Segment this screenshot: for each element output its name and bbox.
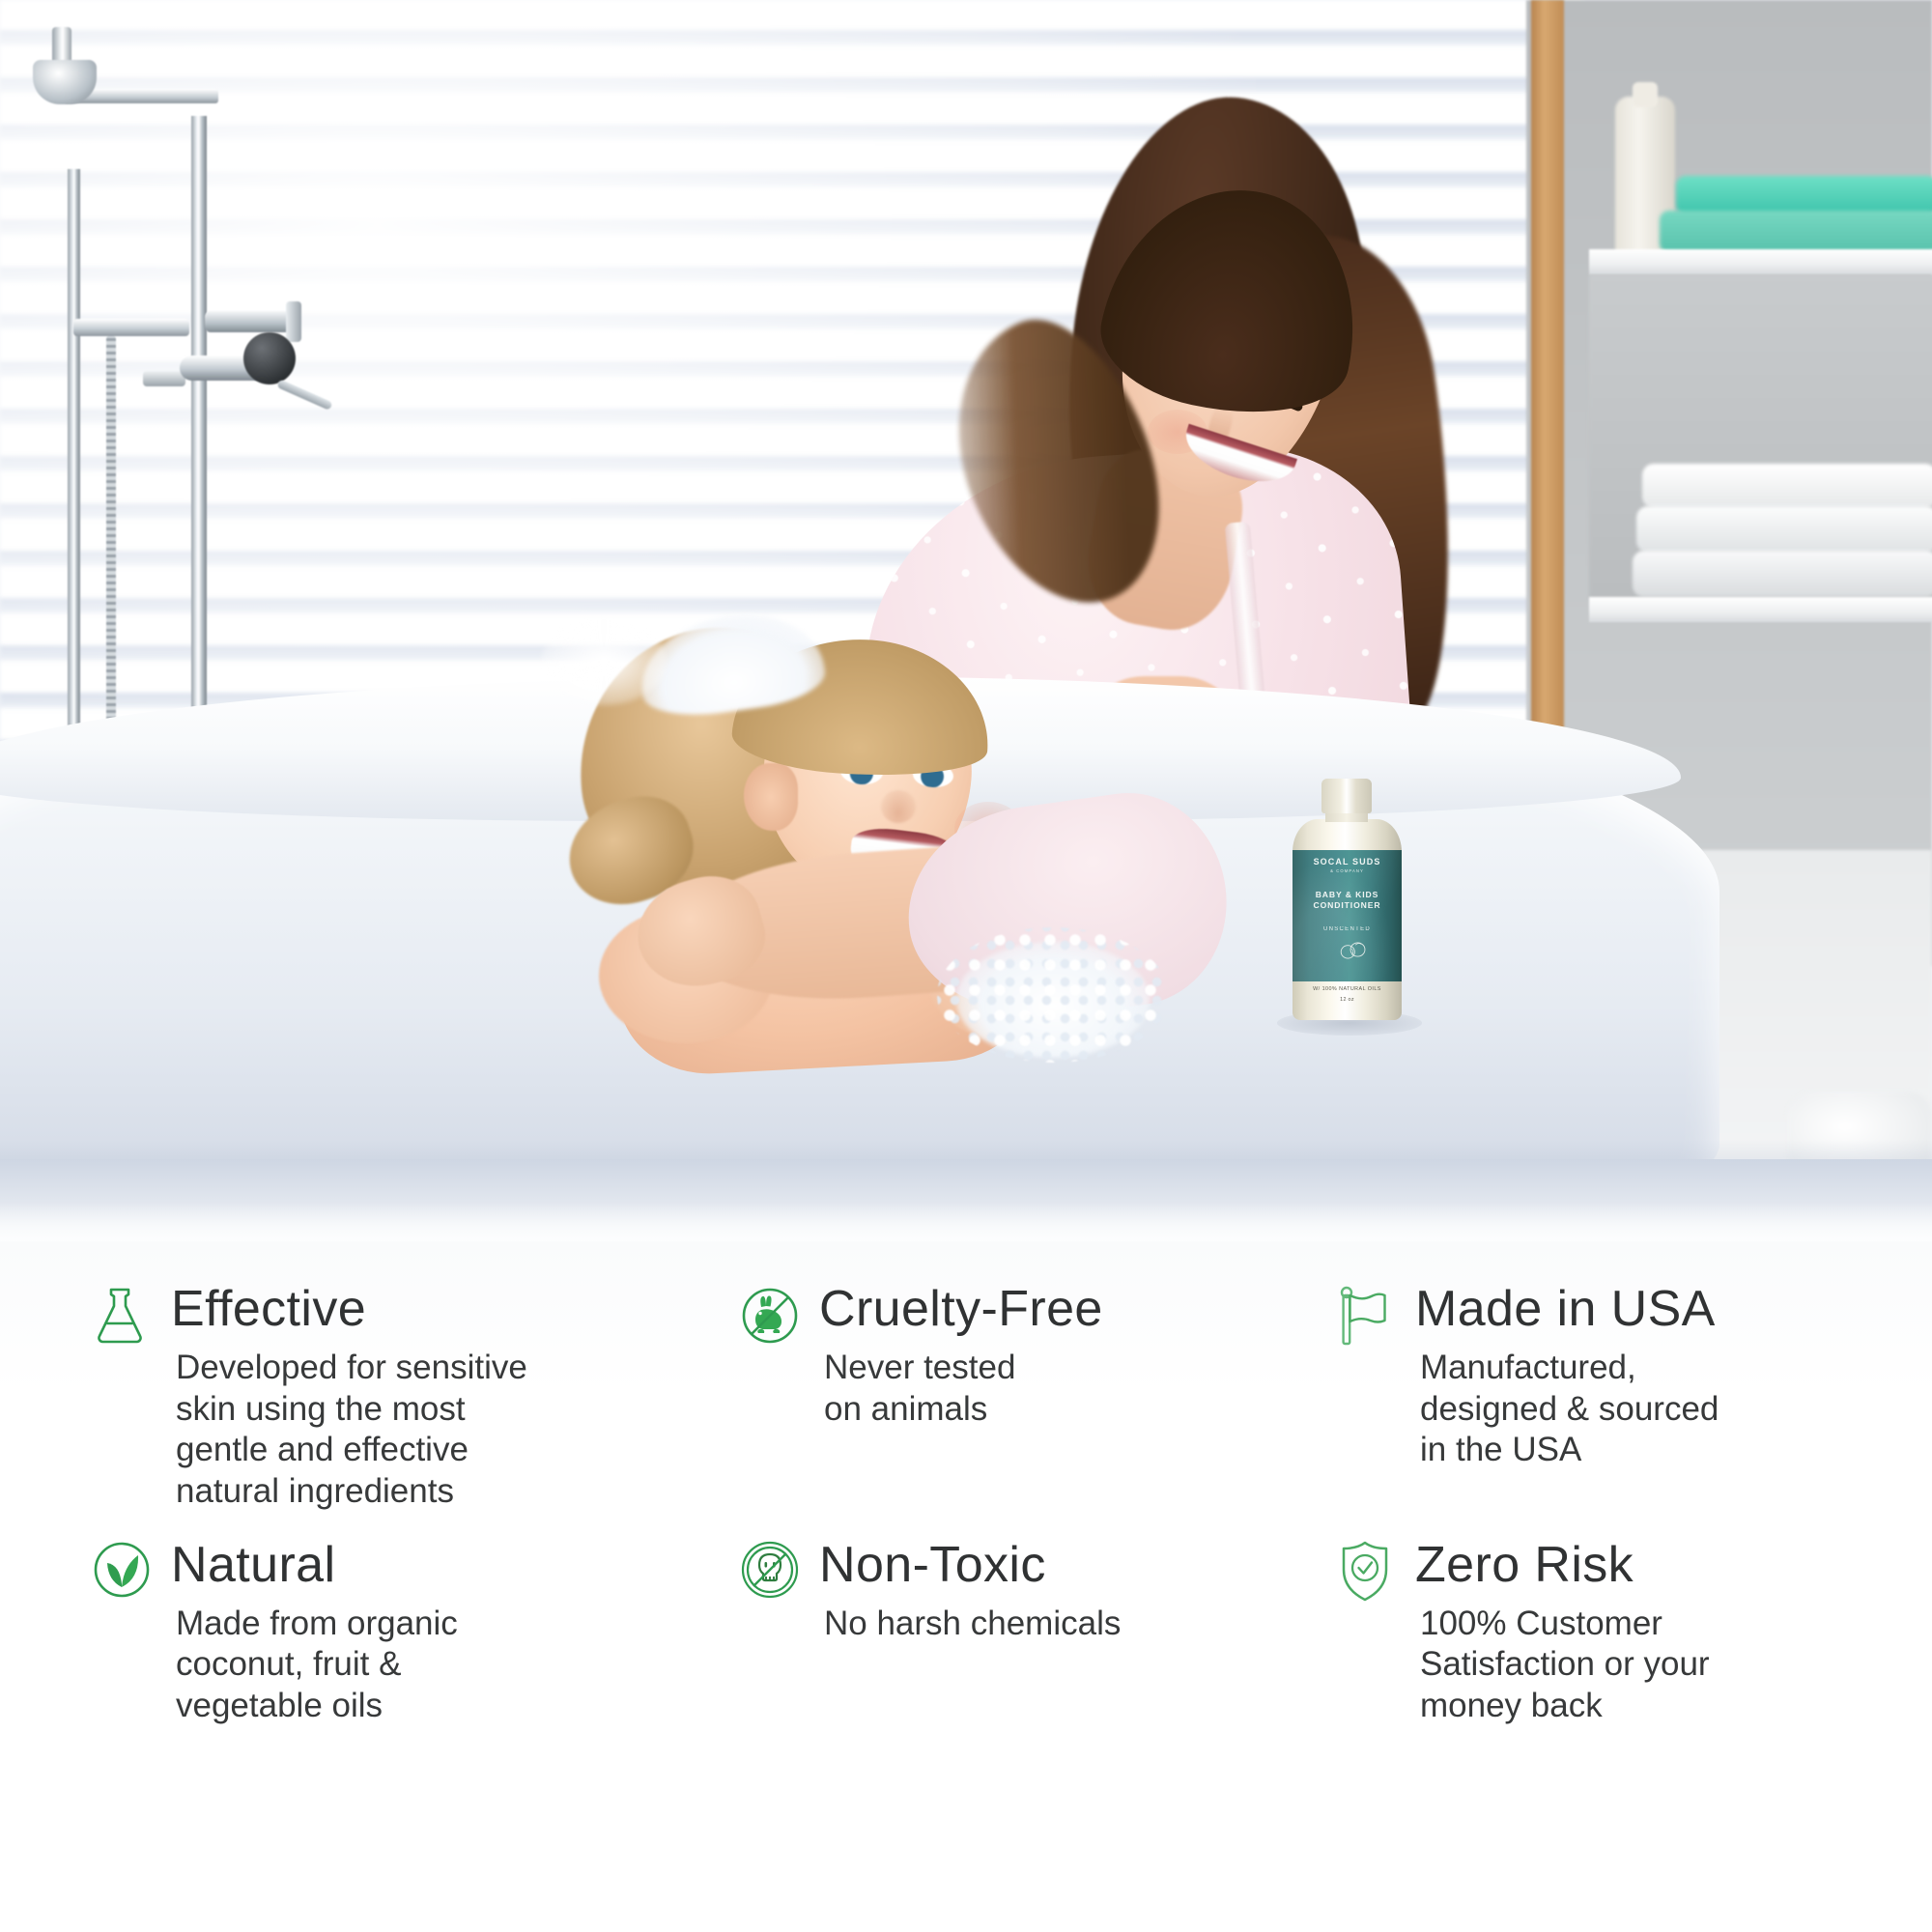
feature-description: Never tested on animals: [824, 1348, 1328, 1430]
white-towel: [1636, 506, 1932, 553]
flask-icon: [92, 1286, 148, 1346]
bottle-cap: [1321, 779, 1372, 813]
bottle-footer: W/ 100% NATURAL OILS 12 oz: [1293, 981, 1402, 1020]
bottle-brand: SOCAL SUDS: [1293, 858, 1402, 867]
teal-towel: [1676, 176, 1932, 214]
faucet-handle: [243, 332, 296, 384]
white-towel: [1642, 464, 1932, 508]
feature-icon-wrap: [92, 1536, 171, 1600]
feature-natural: Natural Made from organic coconut, fruit…: [92, 1536, 724, 1727]
bottle-product-name: BABY & KIDS CONDITIONER: [1293, 890, 1402, 912]
feature-text: Natural Made from organic coconut, fruit…: [171, 1536, 724, 1727]
feature-icon-wrap: [1336, 1282, 1415, 1350]
shower-bracket: [73, 319, 189, 336]
feature-title: Cruelty-Free: [819, 1284, 1328, 1334]
hero-photo: SOCAL SUDS & COMPANY BABY & KIDS CONDITI…: [0, 0, 1932, 1241]
feature-made-in-usa: Made in USA Manufactured, designed & sou…: [1328, 1282, 1932, 1513]
bath-foam: [541, 618, 667, 705]
feature-text: Effective Developed for sensitive skin u…: [171, 1282, 724, 1513]
feature-title: Zero Risk: [1415, 1540, 1932, 1590]
no-skull-icon: [740, 1540, 800, 1600]
child-nose: [881, 790, 916, 823]
feature-cruelty-free: Cruelty-Free Never tested on animals: [724, 1282, 1328, 1513]
photo-fade: [0, 1203, 1932, 1241]
feature-text: Cruelty-Free Never tested on animals: [819, 1282, 1328, 1430]
shower-valve-knob: [286, 301, 301, 342]
feature-text: Non-Toxic No harsh chemicals: [819, 1536, 1328, 1645]
feature-description: Made from organic coconut, fruit & veget…: [176, 1604, 724, 1727]
feature-description: No harsh chemicals: [824, 1604, 1328, 1645]
bottle-product-name-line2: CONDITIONER: [1293, 900, 1402, 911]
shower-valve: [205, 311, 292, 332]
child-ear: [744, 763, 798, 831]
feature-title: Made in USA: [1415, 1284, 1932, 1334]
shelf-bottle-cap: [1633, 82, 1658, 107]
feature-zero-risk: Zero Risk 100% Customer Satisfaction or …: [1328, 1536, 1932, 1727]
bottle-claim: W/ 100% NATURAL OILS: [1293, 986, 1402, 992]
leaves-circle-icon: [92, 1540, 152, 1600]
feature-benefits-section: Effective Developed for sensitive skin u…: [0, 1241, 1932, 1932]
bath-bubbles: [937, 927, 1169, 1063]
product-bottle: SOCAL SUDS & COMPANY BABY & KIDS CONDITI…: [1287, 779, 1410, 1020]
feature-icon-wrap: [740, 1282, 819, 1346]
hose-clip: [143, 371, 185, 386]
white-towel: [1633, 551, 1932, 597]
feature-effective: Effective Developed for sensitive skin u…: [92, 1282, 724, 1513]
bottle-brand-sub: & COMPANY: [1293, 868, 1402, 873]
feature-grid: Effective Developed for sensitive skin u…: [0, 1282, 1932, 1727]
feature-description: Developed for sensitive skin using the m…: [176, 1348, 724, 1513]
flag-icon: [1336, 1286, 1396, 1350]
shield-check-icon: [1336, 1540, 1394, 1604]
feature-title: Effective: [171, 1284, 724, 1334]
bottle-product-name-line1: BABY & KIDS: [1293, 890, 1402, 900]
feature-description: Manufactured, designed & sourced in the …: [1420, 1348, 1932, 1471]
feature-text: Made in USA Manufactured, designed & sou…: [1415, 1282, 1932, 1471]
feature-title: Non-Toxic: [819, 1540, 1328, 1590]
bottle-size: 12 oz: [1293, 997, 1402, 1003]
shower-head-icon: [33, 60, 97, 104]
bottle-scent: UNSCENTED: [1293, 926, 1402, 932]
feature-text: Zero Risk 100% Customer Satisfaction or …: [1415, 1536, 1932, 1727]
feature-icon-wrap: [1336, 1536, 1415, 1604]
feature-icon-wrap: [92, 1282, 171, 1346]
teal-towel: [1660, 211, 1932, 253]
no-rabbit-icon: [740, 1286, 800, 1346]
bottle-label: SOCAL SUDS & COMPANY BABY & KIDS CONDITI…: [1293, 850, 1402, 981]
feature-icon-wrap: [740, 1536, 819, 1600]
product-listing-image: SOCAL SUDS & COMPANY BABY & KIDS CONDITI…: [0, 0, 1932, 1932]
feature-description: 100% Customer Satisfaction or your money…: [1420, 1604, 1932, 1727]
shelf: [1589, 597, 1932, 622]
shelf: [1589, 249, 1932, 274]
coconut-icon: [1337, 939, 1368, 960]
feature-title: Natural: [171, 1540, 724, 1590]
feature-non-toxic: Non-Toxic No harsh chemicals: [724, 1536, 1328, 1727]
